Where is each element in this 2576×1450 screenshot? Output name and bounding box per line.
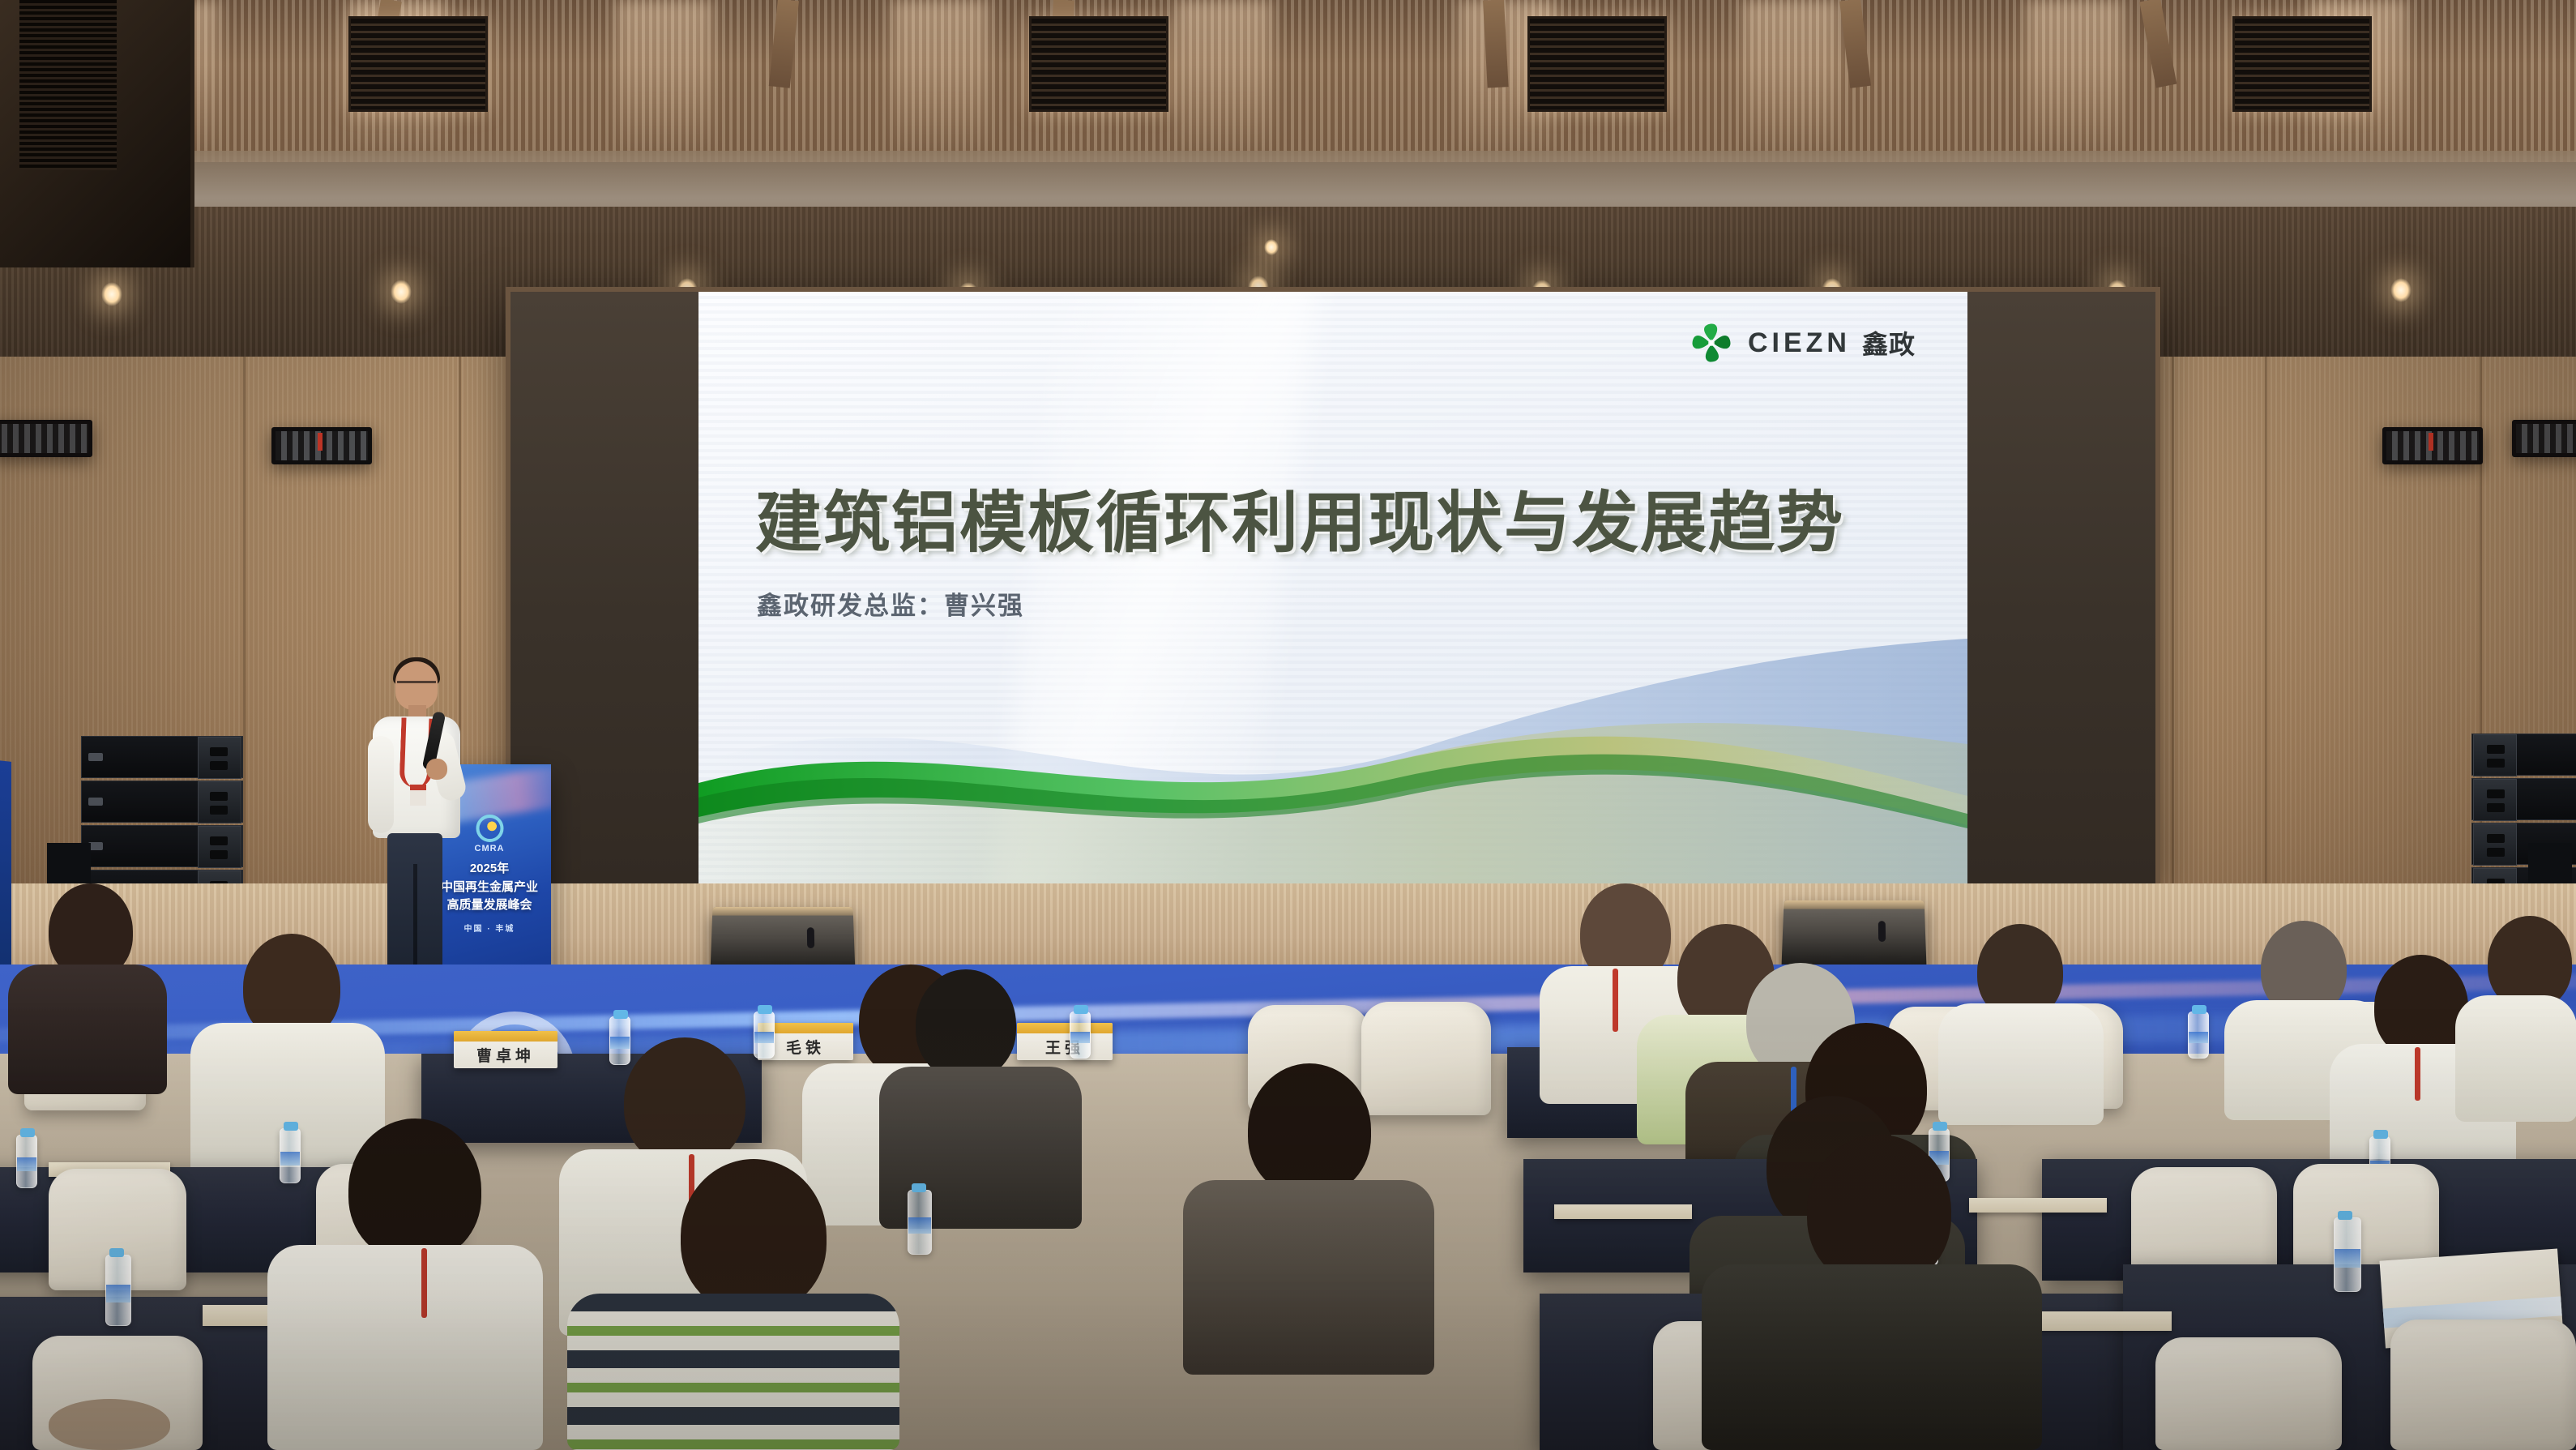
audience-head <box>916 969 1016 1080</box>
audience-lanyard <box>1613 969 1618 1032</box>
speaker-port <box>2487 848 2505 857</box>
slide-wave-graphic <box>698 624 1967 883</box>
speaker-port <box>210 747 228 756</box>
audience-torso <box>567 1294 899 1450</box>
audience-chair <box>2390 1320 2576 1450</box>
bottle-label <box>106 1285 130 1302</box>
presentation-screen: CIEZN 鑫政 建筑铝模板循环利用现状与发展趋势 鑫政研发总监：曹兴强 <box>511 292 2155 883</box>
audience-head <box>1248 1063 1371 1196</box>
slide-subtitle: 鑫政研发总监：曹兴强 <box>757 585 1024 622</box>
presenter-hand <box>426 759 447 780</box>
speaker-port <box>210 836 228 845</box>
presenter-badge <box>410 785 426 806</box>
conference-hall-photo: CIEZN 鑫政 建筑铝模板循环利用现状与发展趋势 鑫政研发总监：曹兴强 <box>0 0 2576 1450</box>
speaker-cabinet <box>81 825 243 867</box>
screen-right-bezel <box>1967 292 2155 883</box>
name-card-name: 曹卓坤 <box>454 1042 557 1068</box>
speaker-port <box>210 806 228 815</box>
ceiling-downlight <box>101 282 122 306</box>
name-card: 王强 <box>1017 1023 1113 1060</box>
audience-torso <box>1183 1180 1434 1375</box>
speaker-port <box>2487 745 2505 754</box>
water-bottle <box>105 1255 131 1326</box>
water-bottle <box>2188 1012 2209 1059</box>
audience-torso <box>8 965 167 1094</box>
ceiling-light-cone <box>1175 0 1272 162</box>
speaker-port <box>210 761 228 770</box>
speaker-cabinet <box>81 781 243 823</box>
ceiling-smoke-detector <box>1264 239 1279 255</box>
speaker-cabinet <box>2471 778 2576 820</box>
audience-head <box>624 1037 745 1167</box>
slide-logo: CIEZN 鑫政 <box>1686 318 1916 368</box>
ceiling-downlight <box>2390 278 2412 302</box>
ceiling-light-cone <box>2026 0 2123 162</box>
name-card-header <box>454 1031 557 1042</box>
slide-canvas: CIEZN 鑫政 建筑铝模板循环利用现状与发展趋势 鑫政研发总监：曹兴强 <box>698 292 1967 883</box>
audience-torso <box>1702 1264 2042 1450</box>
water-bottle <box>2334 1217 2361 1292</box>
speaker-port <box>2487 789 2505 798</box>
ceiling-corner-box <box>0 0 194 267</box>
speaker-horn <box>2473 779 2517 821</box>
speaker-horn <box>2473 734 2517 776</box>
notepad <box>1554 1204 1692 1219</box>
presenter-left-arm <box>368 736 394 833</box>
name-card-name: 王强 <box>1017 1033 1113 1060</box>
speaker-port <box>2487 759 2505 768</box>
audience-head <box>2374 955 2468 1059</box>
ceiling-light-cone <box>616 0 713 162</box>
speaker-port <box>210 792 228 801</box>
name-card: 曹卓坤 <box>454 1031 557 1068</box>
ceiling-vent-grille <box>1029 16 1168 112</box>
audience-torso <box>2455 995 2576 1122</box>
ceiling-beam <box>1483 0 1509 88</box>
water-bottle <box>280 1128 301 1183</box>
bottle-label <box>280 1152 300 1166</box>
water-bottle <box>16 1135 37 1188</box>
speaker-port <box>2487 834 2505 843</box>
speaker-horn <box>2473 823 2517 866</box>
presenter-glasses <box>397 681 436 691</box>
audience-head <box>681 1159 827 1313</box>
ceiling-light-cone <box>1742 0 1839 162</box>
name-card-header <box>1017 1023 1113 1033</box>
stage-monitor-handle <box>807 927 814 948</box>
stage-monitor-left <box>711 907 856 973</box>
stage-monitor-right <box>1782 900 1927 966</box>
water-bottle <box>1070 1012 1091 1059</box>
speaker-cabinet <box>81 736 243 778</box>
speaker-horn <box>198 737 241 779</box>
podium-side-panel <box>0 759 11 974</box>
cmra-wordmark: CMRA <box>475 844 505 853</box>
cmra-ring-icon <box>476 815 503 842</box>
bottle-label <box>2335 1249 2360 1268</box>
presenter-leg-split <box>413 864 417 976</box>
speaker-cabinet <box>2471 734 2576 776</box>
water-bottle <box>609 1016 630 1065</box>
bottle-label <box>17 1157 36 1171</box>
speaker-horn <box>198 826 241 868</box>
audience-torso <box>1938 1003 2104 1125</box>
slide-logo-wordmark: CIEZN <box>1748 327 1851 359</box>
audience-chair <box>1361 1002 1491 1115</box>
audience-lanyard <box>2415 1047 2420 1101</box>
audience-chair <box>2155 1337 2342 1450</box>
cmra-logo: CMRA <box>475 815 505 853</box>
ceiling-light-cone <box>891 0 989 162</box>
speaker-horn <box>198 781 241 823</box>
stage-monitor-handle <box>1878 921 1886 942</box>
bottle-label <box>610 1037 630 1049</box>
speaker-port <box>2487 803 2505 812</box>
audience-torso <box>267 1245 543 1450</box>
ceiling-downlight <box>391 280 412 304</box>
bottle-label <box>1070 1032 1090 1044</box>
ceiling-vent-grille <box>2232 16 2372 112</box>
water-bottle <box>908 1190 932 1255</box>
speaker-port <box>210 850 228 859</box>
bottle-label <box>908 1217 931 1234</box>
slide-title: 建筑铝模板循环利用现状与发展趋势 <box>755 468 1914 565</box>
slide-logo-cn: 鑫政 <box>1862 324 1916 361</box>
audience-head <box>348 1119 481 1261</box>
presenter <box>366 661 464 977</box>
bottle-label <box>2189 1032 2208 1044</box>
audience-head <box>49 1399 170 1450</box>
audience-lanyard <box>421 1248 427 1318</box>
bottle-label <box>754 1032 774 1044</box>
ciezn-butterfly-logo-icon <box>1686 318 1737 368</box>
ceiling-vent-grille <box>1527 16 1667 112</box>
notepad <box>1969 1198 2107 1213</box>
ceiling-vent-grille <box>348 16 488 112</box>
water-bottle <box>754 1012 775 1059</box>
